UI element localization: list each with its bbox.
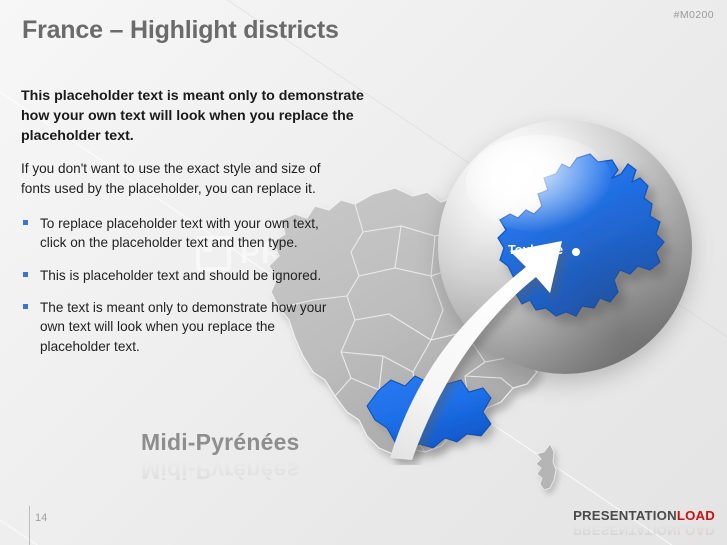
bullet-square-icon bbox=[23, 220, 28, 225]
list-item: To replace placeholder text with your ow… bbox=[21, 214, 340, 253]
slide-canvas: France – Highlight districts #M0200 This… bbox=[0, 0, 727, 545]
brand-second-word: LOAD bbox=[677, 508, 715, 523]
list-item: The text is meant only to demonstrate ho… bbox=[21, 298, 340, 356]
list-item-text: This is placeholder text and should be i… bbox=[40, 268, 321, 283]
secondary-paragraph: If you don't want to use the exact style… bbox=[21, 159, 341, 198]
bullet-list: To replace placeholder text with your ow… bbox=[21, 214, 373, 356]
brand-logo-reflection: PRESENTATIONLOAD bbox=[573, 523, 715, 538]
list-item: This is placeholder text and should be i… bbox=[21, 266, 340, 285]
bullet-square-icon bbox=[23, 304, 28, 309]
region-caption-reflection: Midi-Pyrénées bbox=[141, 457, 300, 484]
page-number: 14 bbox=[35, 512, 47, 524]
list-item-text: To replace placeholder text with your ow… bbox=[40, 216, 319, 250]
brand-logo: PRESENTATIONLOAD PRESENTATIONLOAD bbox=[573, 508, 715, 538]
region-caption-text: Midi-Pyrénées bbox=[141, 429, 300, 456]
lead-paragraph: This placeholder text is meant only to d… bbox=[21, 86, 373, 146]
document-code: #M0200 bbox=[674, 9, 714, 21]
text-content-column: This placeholder text is meant only to d… bbox=[21, 86, 373, 369]
brand-first-word: PRESENTATION bbox=[573, 508, 677, 523]
city-marker-dot-icon bbox=[572, 248, 580, 256]
city-label-toulouse: Toulouse bbox=[508, 243, 563, 257]
list-item-text: The text is meant only to demonstrate ho… bbox=[40, 300, 326, 354]
bullet-square-icon bbox=[23, 272, 28, 277]
footer-divider bbox=[29, 506, 30, 545]
page-title: France – Highlight districts bbox=[22, 16, 339, 45]
brand-logo-text: PRESENTATIONLOAD bbox=[573, 508, 715, 523]
region-caption: Midi-Pyrénées Midi-Pyrénées bbox=[141, 429, 300, 484]
